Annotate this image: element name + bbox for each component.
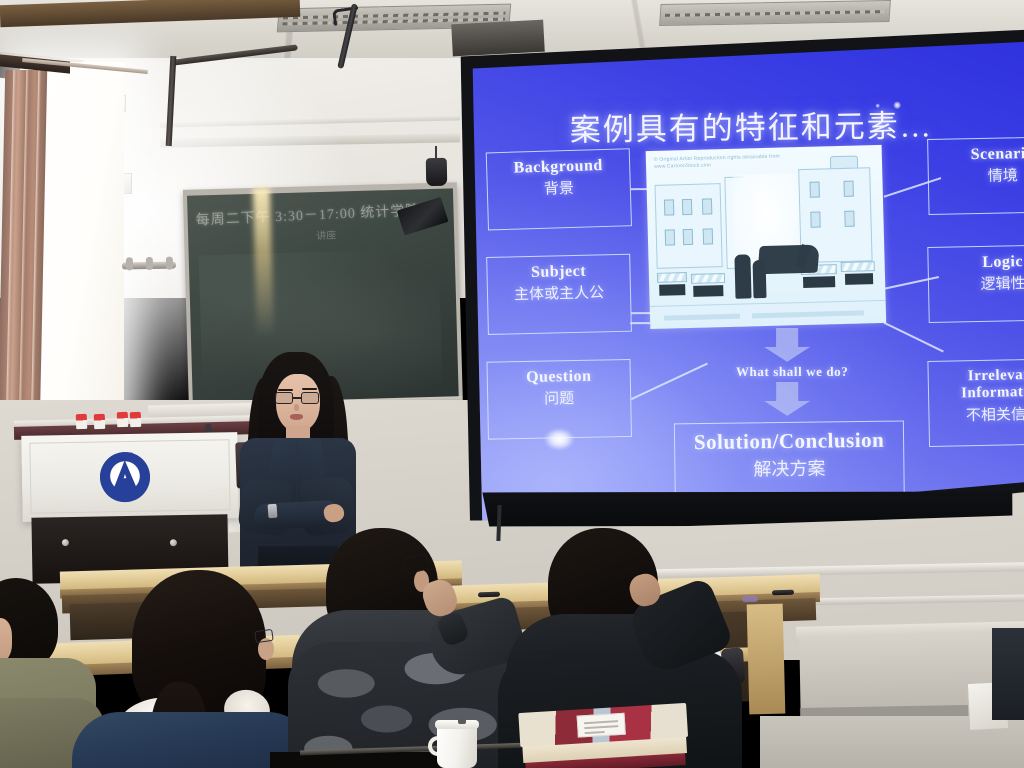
right-edge-dark-object: [992, 628, 1024, 720]
illustration-awning-left2: [691, 273, 725, 284]
bottle-3: [117, 412, 129, 427]
slide-box-logic: Logic 逻辑性: [927, 244, 1024, 323]
illustration-person-2: [753, 260, 767, 298]
wristwatch-icon: [268, 504, 278, 519]
illustration-awning-left: [657, 272, 687, 283]
screen-surface: 案例具有的特征和元素… © Original Artist Reproducti…: [452, 29, 1024, 520]
slide-box-logic-en: Logic: [928, 252, 1024, 273]
classroom-photo: 每周二下午 3:30－17:00 统计学院2# 讲座 案例具有的特征和元素…: [0, 0, 1024, 768]
slide-box-subject-en: Subject: [487, 262, 629, 283]
slide-box-irrelevant-information: Irrelevant Information 不相关信息: [927, 358, 1024, 447]
lecturer-mouth: [290, 414, 303, 420]
wall-hook-bar: [122, 262, 176, 270]
slide-box-background: Background 背景: [486, 148, 632, 230]
desk-row-right-leg: [747, 604, 786, 715]
illustration-awning-right2: [841, 261, 875, 272]
slide-box-solution: Solution/Conclusion 解决方案: [674, 421, 905, 502]
illustration-ground-line: [650, 299, 886, 307]
mug-lid[interactable]: [435, 720, 479, 729]
travel-mug[interactable]: [437, 724, 477, 768]
ceiling-air-vent-right: [659, 0, 891, 26]
student-ponytail-glasses-icon: [254, 629, 273, 643]
purple-item-on-desk[interactable]: [742, 596, 758, 603]
connector-irrelevant: [884, 322, 944, 352]
book-stack[interactable]: [518, 703, 689, 768]
book-cover-label: [577, 713, 626, 738]
podium-knob-left: [62, 539, 69, 546]
slide-box-subject: Subject 主体或主人公: [486, 254, 632, 335]
slide-box-logic-cn: 逻辑性: [929, 275, 1024, 295]
slide-box-scenario: Scenario 情境: [927, 136, 1024, 215]
pen-icon-2: [772, 590, 794, 596]
slide-box-scenario-cn: 情境: [929, 167, 1024, 187]
projector-glare-1: [544, 428, 574, 450]
illustration-shopfront-right: [803, 276, 835, 288]
slide-box-irrelevant-cn: 不相关信息: [929, 406, 1024, 426]
slide-embedded-image: © Original Artist Reproduction rights ob…: [646, 145, 887, 329]
slide-image-credit: © Original Artist Reproduction rights ob…: [654, 153, 814, 172]
illustration-shopfront-right2: [845, 273, 873, 285]
projection-screen: 案例具有的特征和元素… © Original Artist Reproducti…: [452, 29, 1024, 520]
down-arrow-icon-2: [764, 382, 810, 416]
connector-photo-left: [630, 322, 650, 324]
podium-front-panel: [21, 432, 238, 522]
pen-icon-1: [478, 592, 500, 598]
illustration-shopfront-left: [659, 284, 685, 296]
illustration-caption-line: [664, 310, 864, 320]
wall-speaker-icon: [426, 158, 447, 186]
down-arrow-icon-1: [764, 328, 810, 362]
presentation-slide: 案例具有的特征和元素… © Original Artist Reproducti…: [452, 29, 1024, 520]
eyeglasses-icon: [274, 392, 322, 404]
bottle-1: [76, 414, 88, 429]
podium-knob-right: [170, 539, 177, 546]
projector-glare-4: [876, 104, 880, 108]
slide-box-background-cn: 背景: [488, 179, 630, 200]
slide-box-scenario-en: Scenario: [928, 144, 1024, 165]
slide-arrow-label: What shall we do?: [692, 364, 892, 380]
slide-box-solution-en: Solution/Conclusion: [675, 429, 903, 455]
illustration-shopfront-left2: [693, 285, 723, 297]
slide-box-irrelevant-en: Irrelevant Information: [929, 366, 1024, 404]
illustration-person-1: [734, 254, 751, 298]
illustration-building-left: [655, 183, 723, 269]
slide-box-subject-cn: 主体或主人公: [488, 285, 630, 305]
lecturer-nose: [294, 404, 299, 411]
slide-box-background-en: Background: [487, 156, 629, 178]
bottle-2: [94, 414, 106, 429]
slide-box-question-cn: 问题: [488, 390, 630, 410]
bottle-4: [130, 412, 142, 427]
projector-glare-3: [894, 102, 901, 109]
mug-lid-button[interactable]: [458, 718, 466, 724]
slide-box-question-en: Question: [488, 367, 630, 388]
slide-box-solution-cn: 解决方案: [675, 457, 903, 480]
foreground-shadow: [270, 752, 450, 768]
